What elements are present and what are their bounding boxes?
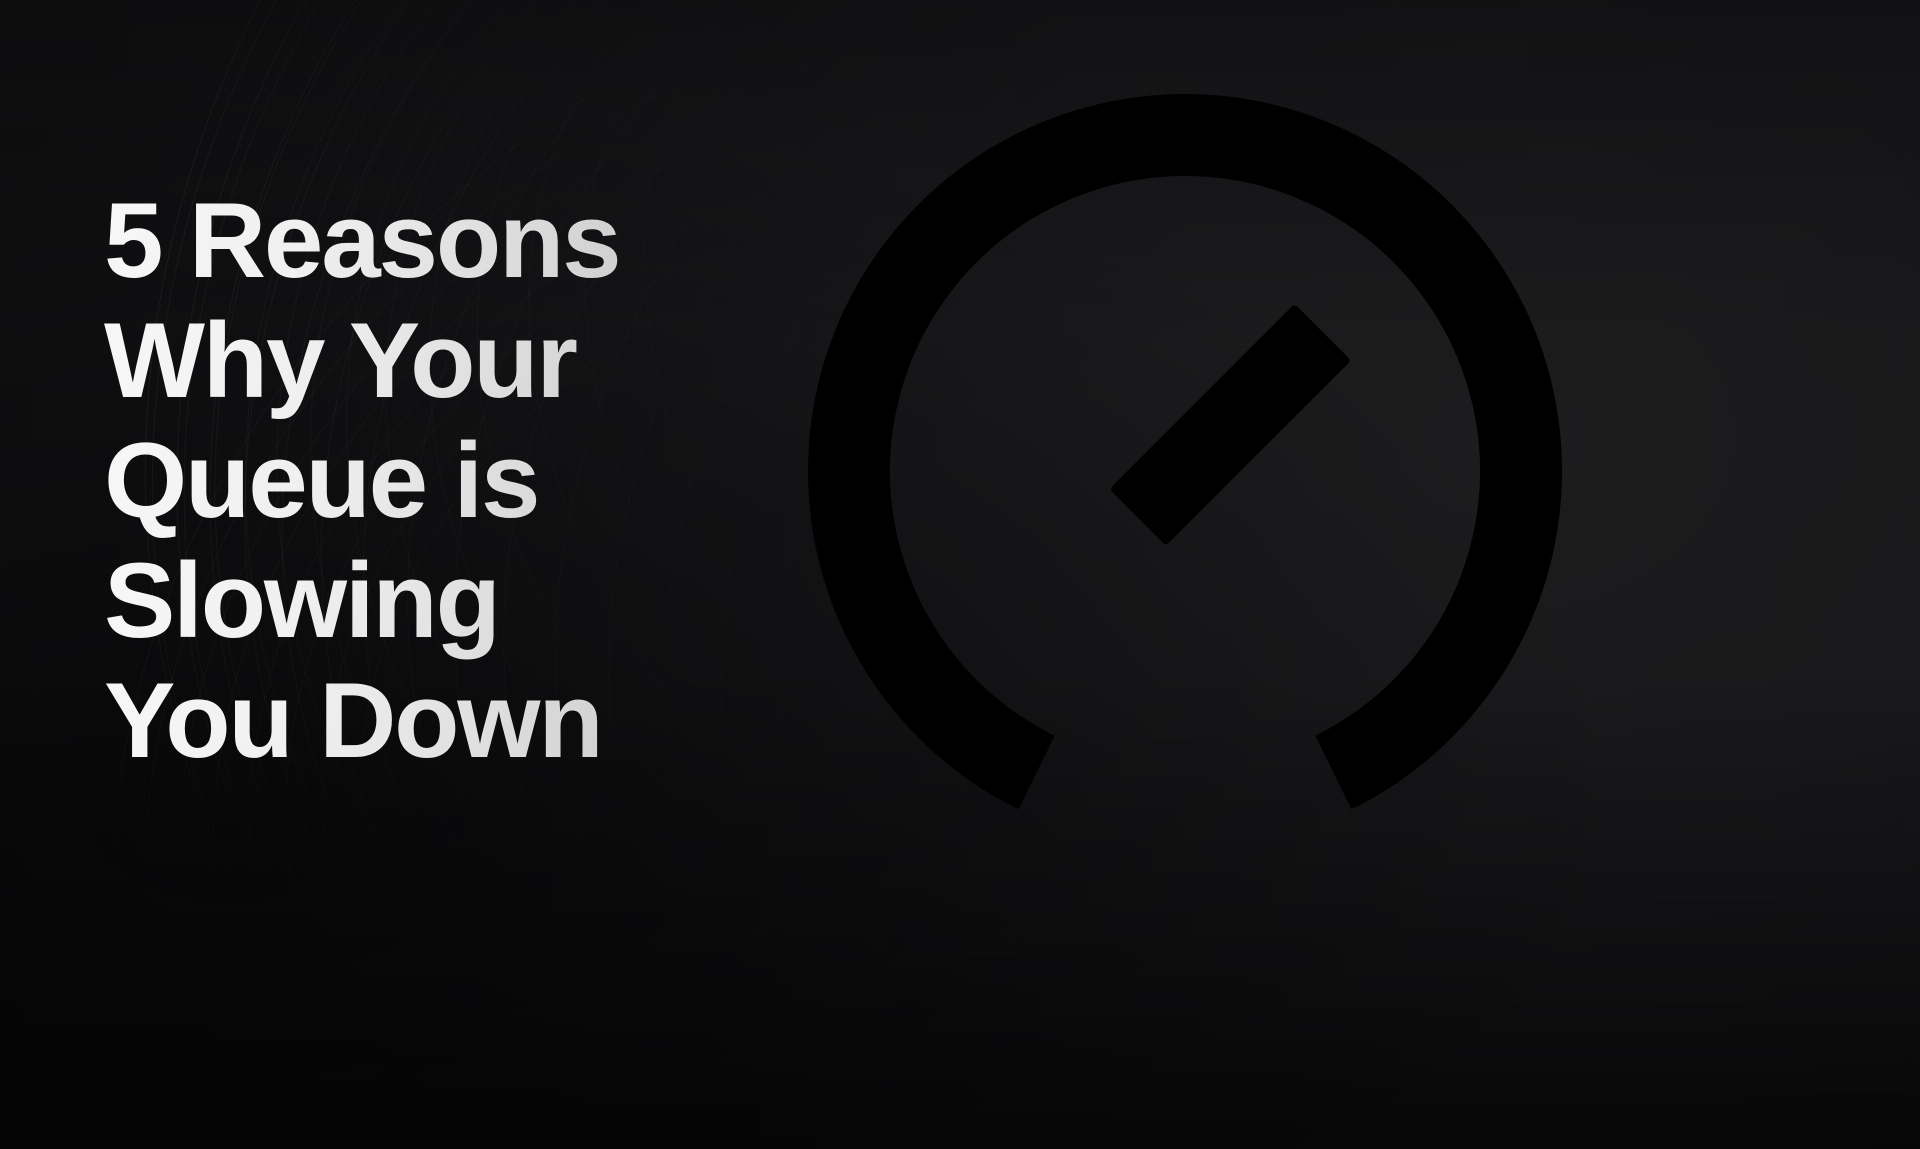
headline-line-1: 5 Reasons [104, 180, 724, 300]
headline-line-2: Why Your [104, 300, 724, 420]
page-title: 5 Reasons Why Your Queue is Slowing You … [104, 180, 724, 780]
poster-canvas: 5 Reasons Why Your Queue is Slowing You … [0, 0, 1920, 1149]
headline-line-3: Queue is [104, 420, 724, 540]
headline-line-4: Slowing [104, 540, 724, 660]
headline-line-5: You Down [104, 660, 724, 780]
